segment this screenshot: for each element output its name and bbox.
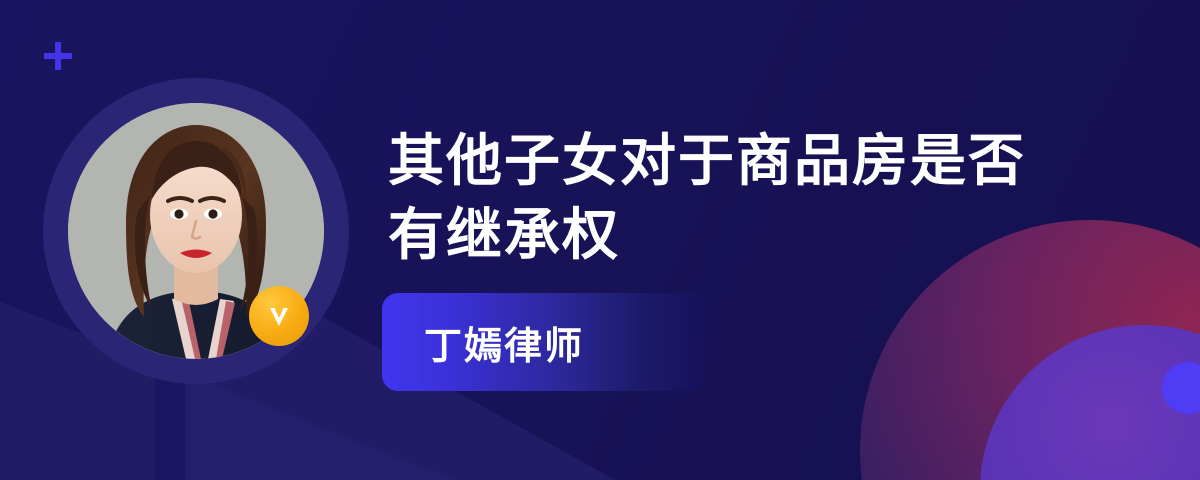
verified-check-icon	[249, 286, 309, 346]
avatar	[43, 78, 349, 384]
lawyer-name-label: 丁嫣律师	[424, 315, 584, 370]
lawyer-name-pill[interactable]: 丁嫣律师	[382, 293, 707, 391]
lawyer-article-banner: 其他子女对于商品房是否 有继承权 丁嫣律师	[0, 0, 1200, 480]
plus-icon	[42, 40, 74, 72]
page-title: 其他子女对于商品房是否 有继承权	[388, 124, 1088, 272]
